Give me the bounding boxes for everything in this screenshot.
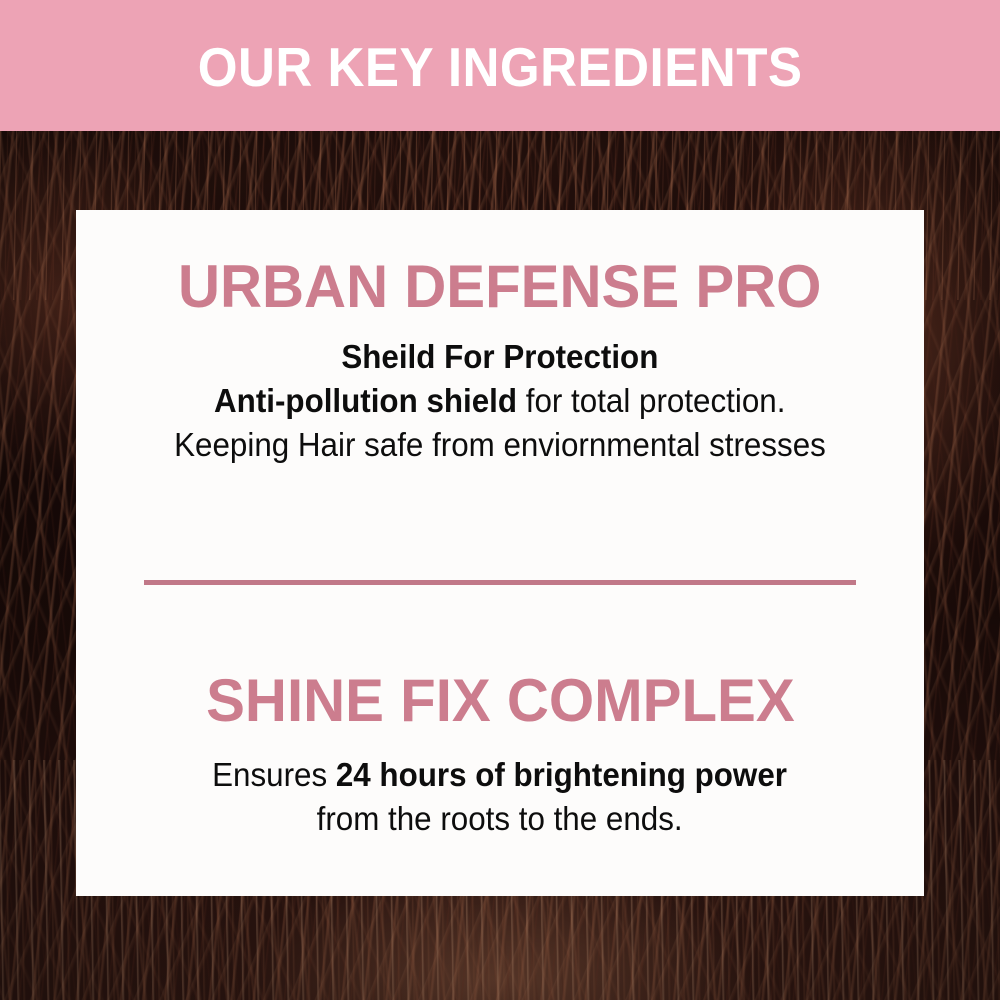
promo-graphic: OUR KEY INGREDIENTS URBAN DEFENSE PRO Sh… xyxy=(0,0,1000,1000)
ingredient-2-line-1-pre: Ensures xyxy=(213,756,337,793)
ingredient-title-shine-fix-complex: SHINE FIX COMPLEX xyxy=(206,671,795,731)
spacer-top xyxy=(102,210,898,257)
ingredient-block-shine-fix-complex: SHINE FIX COMPLEX Ensures 24 hours of br… xyxy=(102,671,898,841)
ingredient-block-urban-defense-pro: URBAN DEFENSE PRO Sheild For Protection … xyxy=(102,257,898,467)
banner-title: OUR KEY INGREDIENTS xyxy=(198,36,803,95)
ingredient-2-line-1: Ensures 24 hours of brightening power xyxy=(213,753,788,797)
ingredient-1-line-2: Anti-pollution shield for total protecti… xyxy=(214,379,785,423)
spacer-after-divider xyxy=(102,585,898,671)
ingredient-1-line-2-rest: for total protection. xyxy=(517,382,785,419)
spacer-before-divider xyxy=(102,467,898,580)
ingredients-card: URBAN DEFENSE PRO Sheild For Protection … xyxy=(76,210,924,896)
ingredient-2-line-2: from the roots to the ends. xyxy=(317,797,683,841)
ingredient-1-line-2-bold: Anti-pollution shield xyxy=(214,382,517,419)
ingredient-1-line-1: Sheild For Protection xyxy=(341,335,658,379)
ingredient-1-line-3: Keeping Hair safe from enviornmental str… xyxy=(174,423,826,467)
header-banner: OUR KEY INGREDIENTS xyxy=(0,0,1000,131)
ingredient-title-urban-defense-pro: URBAN DEFENSE PRO xyxy=(178,257,822,317)
ingredient-2-line-1-bold: 24 hours of brightening power xyxy=(336,756,787,793)
